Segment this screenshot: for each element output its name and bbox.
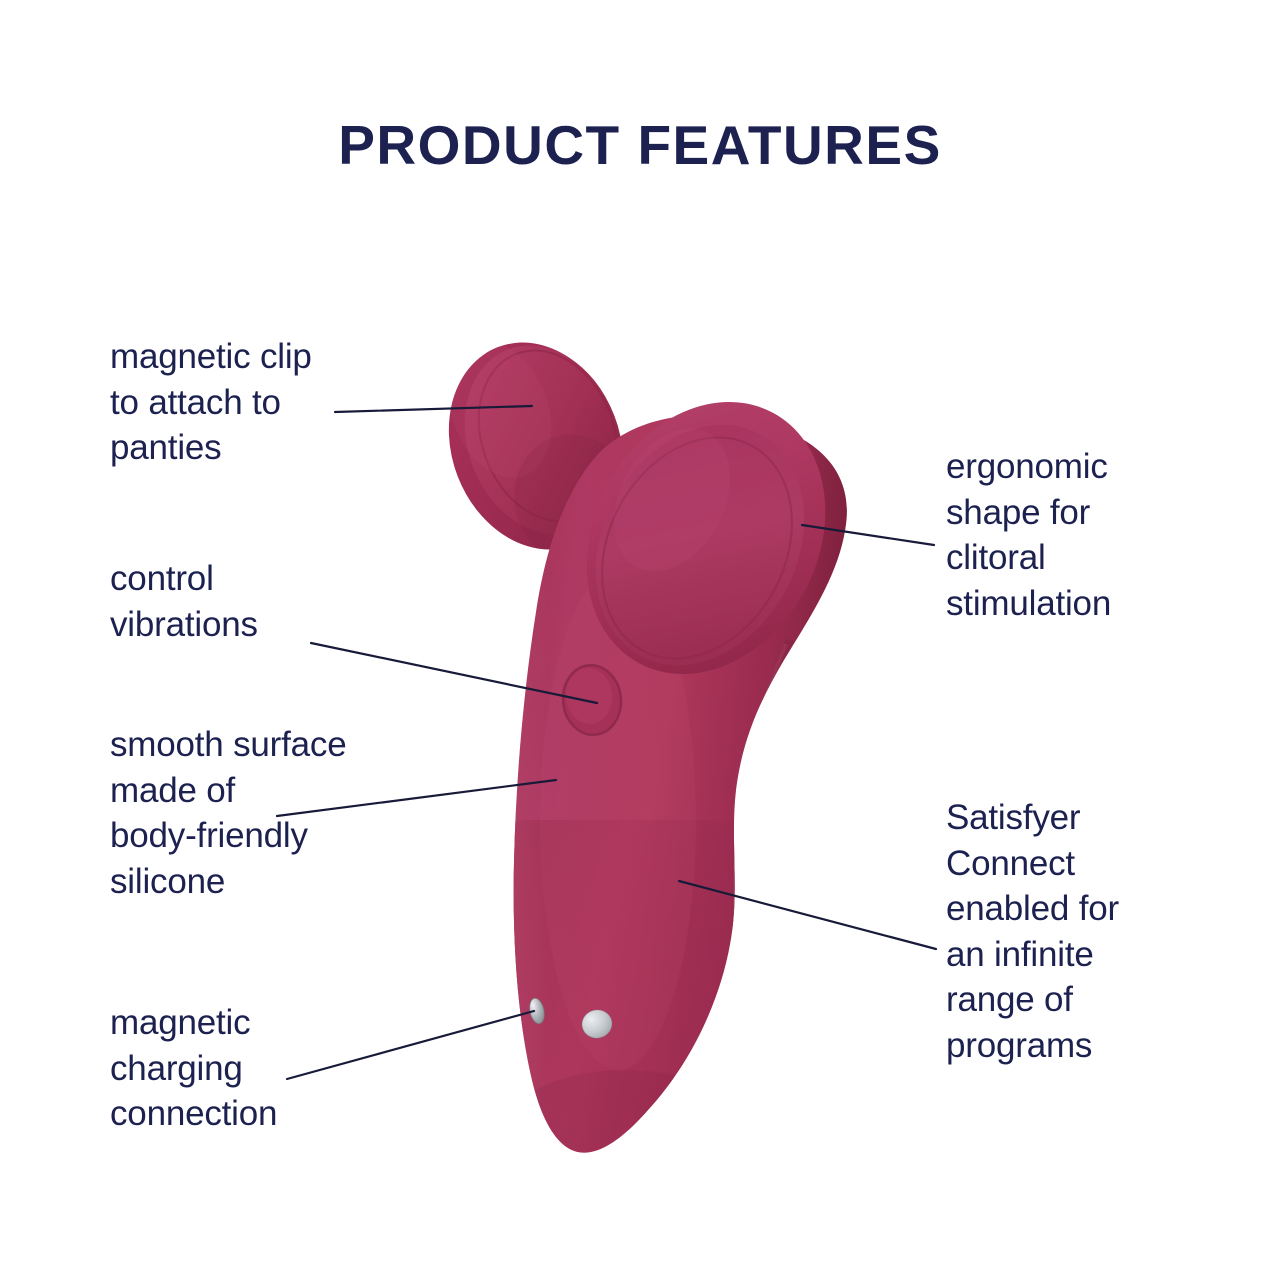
callout-line: charging xyxy=(110,1046,410,1092)
callout-line: shape for xyxy=(946,490,1181,536)
callout-line: to attach to xyxy=(110,380,410,426)
callout-line: body-friendly xyxy=(110,813,430,859)
callout-control-vibrations: control vibrations xyxy=(110,556,410,647)
callout-line: an infinite xyxy=(946,932,1181,978)
callout-line: clitoral xyxy=(946,535,1181,581)
callout-line: made of xyxy=(110,768,430,814)
callout-line: ergonomic xyxy=(946,444,1181,490)
callout-line: range of xyxy=(946,977,1181,1023)
callout-line: silicone xyxy=(110,859,430,905)
callout-line: connection xyxy=(110,1091,410,1137)
callout-line: control xyxy=(110,556,410,602)
callout-magnetic-charging: magnetic charging connection xyxy=(110,1000,410,1137)
callout-smooth-surface: smooth surface made of body-friendly sil… xyxy=(110,722,430,904)
callout-line: magnetic clip xyxy=(110,334,410,380)
callout-line: smooth surface xyxy=(110,722,430,768)
callout-line: enabled for xyxy=(946,886,1181,932)
callout-line: Connect xyxy=(946,841,1181,887)
callout-magnetic-clip: magnetic clip to attach to panties xyxy=(110,334,410,471)
product-features-page: PRODUCT FEATURES xyxy=(0,0,1280,1280)
callout-ergonomic-shape: ergonomic shape for clitoral stimulation xyxy=(946,444,1181,626)
callout-line: programs xyxy=(946,1023,1181,1069)
callout-line: magnetic xyxy=(110,1000,410,1046)
callout-line: stimulation xyxy=(946,581,1181,627)
callout-line: vibrations xyxy=(110,602,410,648)
callout-satisfyer-connect: Satisfyer Connect enabled for an infinit… xyxy=(946,795,1181,1068)
callout-line: panties xyxy=(110,425,410,471)
callout-line: Satisfyer xyxy=(946,795,1181,841)
